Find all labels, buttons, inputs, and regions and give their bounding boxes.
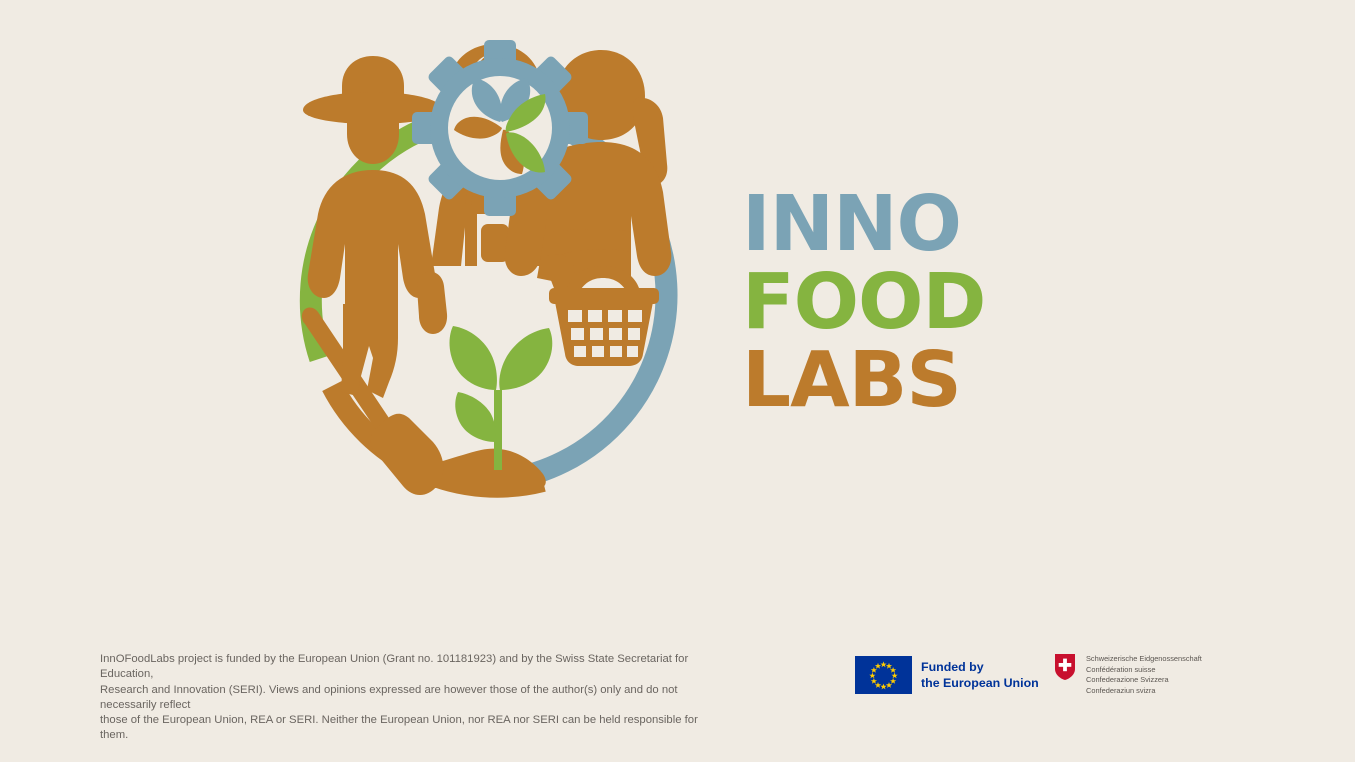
swiss-confederation-badge: Schweizerische Eidgenossenschaft Confédé… <box>1055 654 1202 696</box>
swiss-text-line-de: Schweizerische Eidgenossenschaft <box>1086 654 1202 665</box>
swiss-cross-shield-icon <box>1055 654 1075 680</box>
gear-with-leaves-icon <box>412 40 588 216</box>
swiss-confederation-text: Schweizerische Eidgenossenschaft Confédé… <box>1086 654 1202 696</box>
wordmark-line-food: FOOD <box>742 264 1042 342</box>
disclaimer-line-3: those of the European Union, REA or SERI… <box>100 713 700 744</box>
swiss-text-line-fr: Confédération suisse <box>1086 665 1202 676</box>
footer: InnOFoodLabs project is funded by the Eu… <box>0 640 1355 762</box>
funding-disclaimer: InnOFoodLabs project is funded by the Eu… <box>100 652 700 744</box>
wordmark-line-inno: INNO <box>742 186 1042 264</box>
eu-text-line-1: Funded by <box>921 659 1039 675</box>
eu-text-line-2: the European Union <box>921 675 1039 691</box>
disclaimer-line-2: Research and Innovation (SERI). Views an… <box>100 683 700 714</box>
seedling-sprout-icon <box>450 326 553 470</box>
disclaimer-line-1: InnOFoodLabs project is funded by the Eu… <box>100 652 700 683</box>
innofoodlabs-emblem <box>285 38 715 508</box>
eu-funding-text: Funded by the European Union <box>921 656 1039 694</box>
logo-block: INNO FOOD LABS <box>0 0 1060 560</box>
eu-funding-badge: Funded by the European Union <box>855 656 1039 694</box>
swiss-text-line-it: Confederazione Svizzera <box>1086 675 1202 686</box>
eu-flag-icon <box>855 656 912 694</box>
wordmark: INNO FOOD LABS <box>742 186 1042 420</box>
wordmark-line-labs: LABS <box>742 342 1042 420</box>
swiss-text-line-rm: Confederaziun svizra <box>1086 686 1202 697</box>
